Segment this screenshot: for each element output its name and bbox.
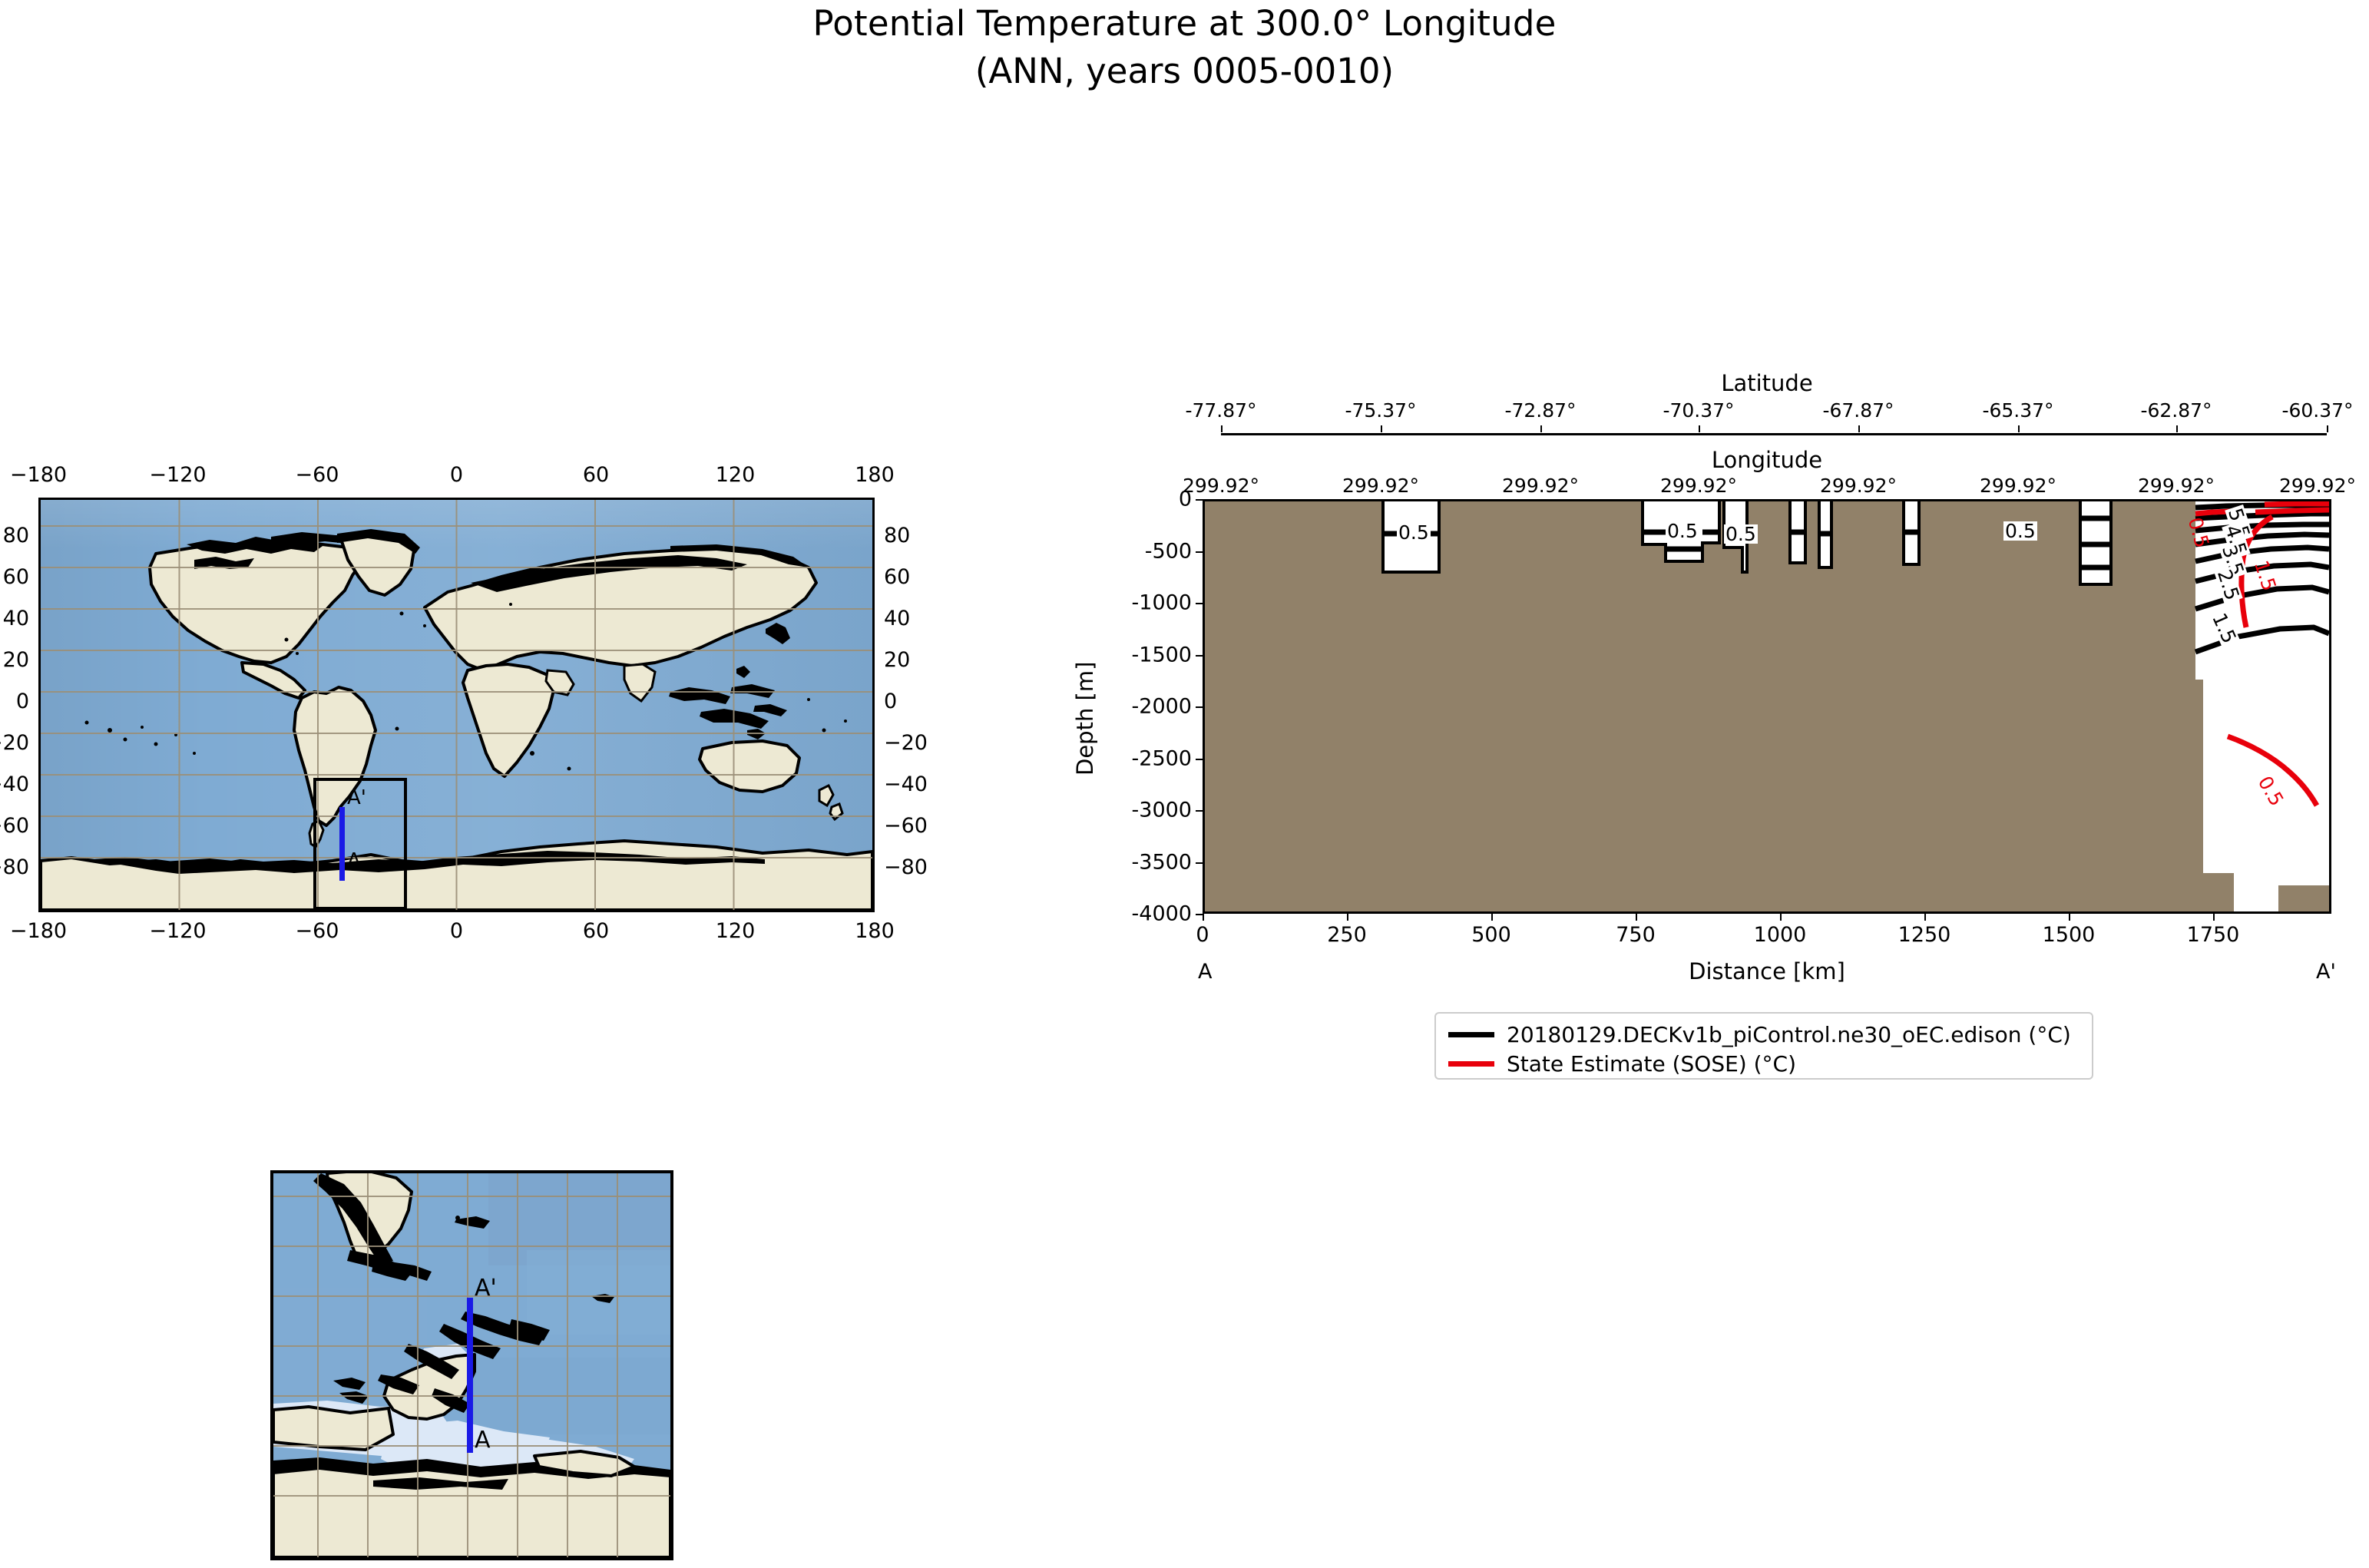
transect-line-inset[interactable] <box>467 1298 473 1453</box>
latitude-tickmark <box>2176 425 2178 432</box>
global-reference-map-panel: −180 −120 −60 0 60 120 180 −180 −120 −60… <box>38 498 875 912</box>
longitude-tick: 299.92° <box>1980 475 2056 497</box>
depth-tickmark <box>1196 810 1203 812</box>
worldmap-right-ytick: −60 <box>884 814 928 838</box>
worldmap-bottom-xtick: 180 <box>855 919 895 943</box>
longitude-tick: 299.92° <box>1183 475 1259 497</box>
depth-tick: -2500 <box>1038 746 1192 770</box>
title-main-line: Potential Temperature at 300.0° Longitud… <box>0 0 2369 48</box>
contour-label-black: 0.5 <box>2003 521 2037 541</box>
distance-tick: 1500 <box>2043 923 2096 947</box>
latitude-tick: -67.87° <box>1822 399 1894 422</box>
legend-swatch-observation <box>1448 1061 1494 1067</box>
distance-tick: 1750 <box>2187 923 2240 947</box>
transect-label-aprime-inset: A' <box>475 1275 497 1302</box>
worldmap-right-ytick: 20 <box>884 648 910 672</box>
latitude-tick: -60.37° <box>2281 399 2353 422</box>
distance-tickmark <box>1636 914 1637 921</box>
distance-tickmark <box>1347 914 1348 921</box>
depth-tick: -500 <box>1038 539 1192 563</box>
worldmap-top-xtick: 120 <box>716 463 756 487</box>
latitude-tickmark <box>2018 425 2020 432</box>
transect-label-a-main: A <box>347 849 361 872</box>
longitude-tick: 299.92° <box>1820 475 1897 497</box>
worldmap-bottom-xtick: 0 <box>450 919 463 943</box>
latitude-tickmark <box>1221 425 1223 432</box>
depth-tick: 0 <box>1038 488 1192 511</box>
worldmap-left-ytick: 80 <box>3 524 29 547</box>
latitude-tick: -62.87° <box>2140 399 2212 422</box>
latitude-tickmark <box>2327 425 2328 432</box>
worldmap-left-ytick: −60 <box>0 814 29 838</box>
depth-tick: -4000 <box>1038 902 1192 926</box>
depth-tick: -1000 <box>1038 591 1192 615</box>
section-start-label: A <box>1198 960 1212 984</box>
depth-tickmark <box>1196 551 1203 553</box>
worldmap-top-xtick: 180 <box>855 463 895 487</box>
worldmap-left-ytick: 40 <box>3 607 29 630</box>
legend-box[interactable]: 20180129.DECKv1b_piControl.ne30_oEC.edis… <box>1434 1012 2093 1080</box>
worldmap-right-ytick: 40 <box>884 607 910 630</box>
contour-label-black: 0.5 <box>1666 521 1699 541</box>
legend-label-model: 20180129.DECKv1b_piControl.ne30_oEC.edis… <box>1507 1022 2071 1047</box>
worldmap-left-ytick: −40 <box>0 772 29 796</box>
transect-label-aprime-main: A' <box>347 786 366 809</box>
worldmap-top-xtick: 0 <box>450 463 463 487</box>
distance-axis-label: Distance [km] <box>1689 958 1845 984</box>
worldmap-bottom-xtick: −60 <box>296 919 339 943</box>
distance-tickmark <box>1924 914 1926 921</box>
worldmap-left-ytick: 20 <box>3 648 29 672</box>
cross-section-panel: Latitude -77.87° -75.37° -72.87° -70.37°… <box>1203 499 2331 914</box>
depth-tickmark <box>1196 706 1203 708</box>
transect-label-a-inset: A <box>475 1427 491 1454</box>
section-end-label: A' <box>2316 960 2336 984</box>
transect-line-main[interactable] <box>339 807 345 881</box>
worldmap-right-ytick: −80 <box>884 855 928 879</box>
latitude-axis-label: Latitude <box>1721 370 1812 396</box>
worldmap-left-ytick: 0 <box>16 690 29 713</box>
worldmap-bottom-xtick: −120 <box>149 919 206 943</box>
figure-title: Potential Temperature at 300.0° Longitud… <box>0 0 2369 95</box>
latitude-tickmark <box>1540 425 1542 432</box>
latitude-tick: -72.87° <box>1504 399 1576 422</box>
worldmap-coastlines: .lnd{fill:#EDE9D3;stroke:#000;stroke-wid… <box>41 500 872 910</box>
distance-tickmark <box>2213 914 2215 921</box>
distance-tickmark <box>1491 914 1493 921</box>
distance-tick: 0 <box>1196 923 1209 947</box>
insetmap-axes[interactable]: .ilnd{fill:#EDE9D3;stroke:#000;stroke-wi… <box>270 1170 673 1560</box>
worldmap-right-ytick: 80 <box>884 524 910 547</box>
worldmap-left-ytick: 60 <box>3 565 29 589</box>
distance-tickmark <box>1203 914 1204 921</box>
worldmap-top-xtick: −180 <box>10 463 67 487</box>
worldmap-left-ytick: −20 <box>0 731 29 755</box>
worldmap-right-ytick: −40 <box>884 772 928 796</box>
worldmap-bottom-xtick: 120 <box>716 919 756 943</box>
depth-tickmark <box>1196 759 1203 760</box>
worldmap-right-ytick: 0 <box>884 690 897 713</box>
worldmap-left-ytick: −80 <box>0 855 29 879</box>
cross-section-plot: .bth{fill:#918169;stroke:none;} .ck{fill… <box>1205 501 2329 911</box>
worldmap-right-ytick: −20 <box>884 731 928 755</box>
latitude-axis-spine <box>1221 433 2327 435</box>
legend-swatch-model <box>1448 1032 1494 1037</box>
worldmap-top-xtick: −60 <box>296 463 339 487</box>
worldmap-bottom-xtick: −180 <box>10 919 67 943</box>
distance-tick: 1250 <box>1898 923 1951 947</box>
latitude-tickmark <box>1699 425 1700 432</box>
distance-tick: 500 <box>1471 923 1511 947</box>
depth-tickmark <box>1196 655 1203 657</box>
worldmap-axes[interactable]: .lnd{fill:#EDE9D3;stroke:#000;stroke-wid… <box>38 498 875 912</box>
depth-tick: -2000 <box>1038 695 1192 719</box>
longitude-tick: 299.92° <box>1342 475 1419 497</box>
depth-tickmark <box>1196 499 1203 501</box>
worldmap-top-xtick: 60 <box>583 463 609 487</box>
regional-zoom-map-panel: .ilnd{fill:#EDE9D3;stroke:#000;stroke-wi… <box>270 1170 673 1560</box>
distance-tick: 750 <box>1616 923 1656 947</box>
latitude-tick: -77.87° <box>1185 399 1256 422</box>
distance-tick: 250 <box>1327 923 1367 947</box>
longitude-tick: 299.92° <box>1660 475 1737 497</box>
worldmap-top-xtick: −120 <box>149 463 206 487</box>
latitude-tick: -65.37° <box>1982 399 2053 422</box>
longitude-tick: 299.92° <box>2279 475 2356 497</box>
legend-entry-observation[interactable]: State Estimate (SOSE) (°C) <box>1448 1049 1796 1078</box>
title-subtitle-line: (ANN, years 0005-0010) <box>0 48 2369 95</box>
latitude-tickmark <box>1381 425 1382 432</box>
depth-tickmark <box>1196 862 1203 864</box>
legend-label-observation: State Estimate (SOSE) (°C) <box>1507 1051 1796 1077</box>
latitude-tickmark <box>1858 425 1860 432</box>
cross-section-axes[interactable]: .bth{fill:#918169;stroke:none;} .ck{fill… <box>1203 499 2331 914</box>
depth-tickmark <box>1196 603 1203 604</box>
longitude-tick: 299.92° <box>2138 475 2215 497</box>
latitude-tick: -75.37° <box>1345 399 1416 422</box>
distance-tick: 1000 <box>1754 923 1807 947</box>
distance-tickmark <box>2069 914 2070 921</box>
longitude-tick: 299.92° <box>1502 475 1579 497</box>
latitude-tick: -70.37° <box>1663 399 1734 422</box>
legend-entry-model[interactable]: 20180129.DECKv1b_piControl.ne30_oEC.edis… <box>1448 1020 2071 1049</box>
contour-label-black: 0.5 <box>1724 524 1758 544</box>
contour-label-black: 0.5 <box>1397 523 1431 542</box>
depth-tick: -3500 <box>1038 850 1192 874</box>
longitude-axis-label: Longitude <box>1712 447 1822 473</box>
worldmap-right-ytick: 60 <box>884 565 910 589</box>
worldmap-bottom-xtick: 60 <box>583 919 609 943</box>
depth-tick: -1500 <box>1038 643 1192 667</box>
depth-tick: -3000 <box>1038 799 1192 822</box>
depth-tickmark <box>1196 914 1203 915</box>
distance-tickmark <box>1780 914 1782 921</box>
